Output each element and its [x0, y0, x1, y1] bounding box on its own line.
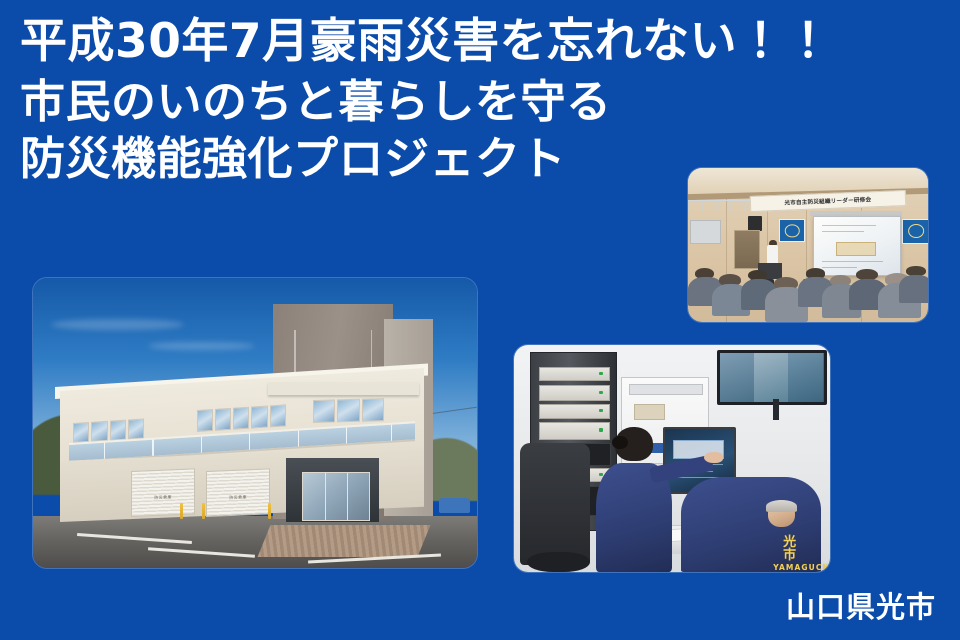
staff-member-foreground: 光 市 YAMAGUCHI [681, 477, 820, 572]
jacket-kanji-label: 光 市 [773, 536, 815, 563]
bollard [202, 503, 205, 519]
rack-unit [539, 385, 609, 401]
wall-whiteboard [690, 220, 721, 244]
entrance-glass-doors [302, 472, 371, 520]
jacket-roman-label: YAMAGUCHI [773, 564, 815, 572]
balcony-post [152, 440, 153, 456]
headline-block: 平成30年7月豪雨災害を忘れない！！ 市民のいのちと暮らしを守る 防災機能強化プ… [20, 18, 920, 181]
cabinet-carton [634, 404, 665, 420]
staff-hair [766, 500, 797, 512]
monitor-feed [754, 353, 789, 403]
slide-highlight-box [836, 242, 876, 256]
slide-line [822, 231, 863, 232]
emblem-flag-right [902, 219, 928, 244]
shutter-label: 防災倉庫 [229, 495, 247, 502]
window [337, 399, 359, 423]
window [234, 407, 250, 430]
jacket-back-print: 光 市 YAMAGUCHI [773, 536, 815, 572]
audience-group [688, 257, 928, 322]
balcony-post [200, 437, 201, 453]
monitor-feed [788, 353, 823, 403]
photo-seminar: 光市自主防災組織リーダー研修会 [688, 168, 928, 322]
balcony-post [249, 434, 250, 450]
seminar-banner-text: 光市自主防災組織リーダー研修会 [785, 195, 872, 206]
cloud-wisp [51, 319, 184, 331]
shutter-label: 防災倉庫 [154, 495, 172, 502]
flag-emblem-icon [785, 224, 799, 237]
photo-control-inner: 光 市 YAMAGUCHI [514, 345, 830, 572]
window [252, 405, 268, 428]
rack-unit [539, 422, 609, 440]
door-mullion [325, 473, 326, 519]
photo-control-room: 光 市 YAMAGUCHI [514, 345, 830, 572]
headline-line-1: 平成30年7月豪雨災害を忘れない！！ [20, 18, 920, 65]
window [73, 422, 89, 443]
status-led-icon [599, 409, 603, 412]
status-led-icon [599, 372, 603, 375]
window [215, 408, 231, 431]
bollard [268, 503, 271, 519]
office-chair [520, 443, 590, 566]
window [128, 419, 144, 440]
wall-monitor-mount [773, 399, 779, 419]
status-led-icon [599, 391, 603, 394]
headline-line-3: 防災機能強化プロジェクト [20, 136, 920, 181]
window [197, 409, 213, 432]
audience-body [899, 275, 928, 303]
headline-line-2: 市民のいのちと暮らしを守る [20, 79, 920, 124]
balcony-post [297, 431, 298, 447]
window [313, 399, 335, 423]
bollard [180, 503, 183, 519]
staff-hair-bun [612, 436, 628, 450]
window [91, 421, 107, 442]
brick-pavement [257, 525, 430, 557]
status-led-icon [599, 428, 603, 432]
balcony-post [391, 425, 392, 441]
chair-base [527, 552, 590, 572]
rack-unit [539, 367, 609, 381]
photo-seminar-inner: 光市自主防災組織リーダー研修会 [688, 168, 928, 322]
emblem-flag-left [779, 219, 805, 243]
parked-car [439, 498, 470, 513]
flag-emblem-icon [908, 224, 924, 238]
window [109, 420, 125, 441]
building-canopy [268, 382, 419, 395]
garage-shutter-1: 防災倉庫 [131, 468, 195, 516]
photo-building-inner: 防災倉庫 防災倉庫 [33, 278, 477, 568]
window [361, 398, 383, 422]
poster-root: 平成30年7月豪雨災害を忘れない！！ 市民のいのちと暮らしを守る 防災機能強化プ… [0, 0, 960, 640]
garage-shutter-2: 防災倉庫 [206, 468, 270, 516]
cabinet-slot [629, 384, 703, 395]
photo-building: 防災倉庫 防災倉庫 [33, 278, 477, 568]
balcony-post [346, 428, 347, 444]
slide-line [822, 225, 876, 226]
balcony-post [103, 443, 104, 459]
rack-unit [539, 404, 609, 418]
door-mullion [347, 473, 348, 519]
staff-pointing-hand [704, 452, 723, 463]
city-credit: 山口県光市 [786, 584, 936, 626]
window-row-tower [313, 398, 384, 423]
wall-monitor [717, 350, 827, 406]
monitor-feed [720, 353, 755, 403]
window [270, 404, 286, 427]
